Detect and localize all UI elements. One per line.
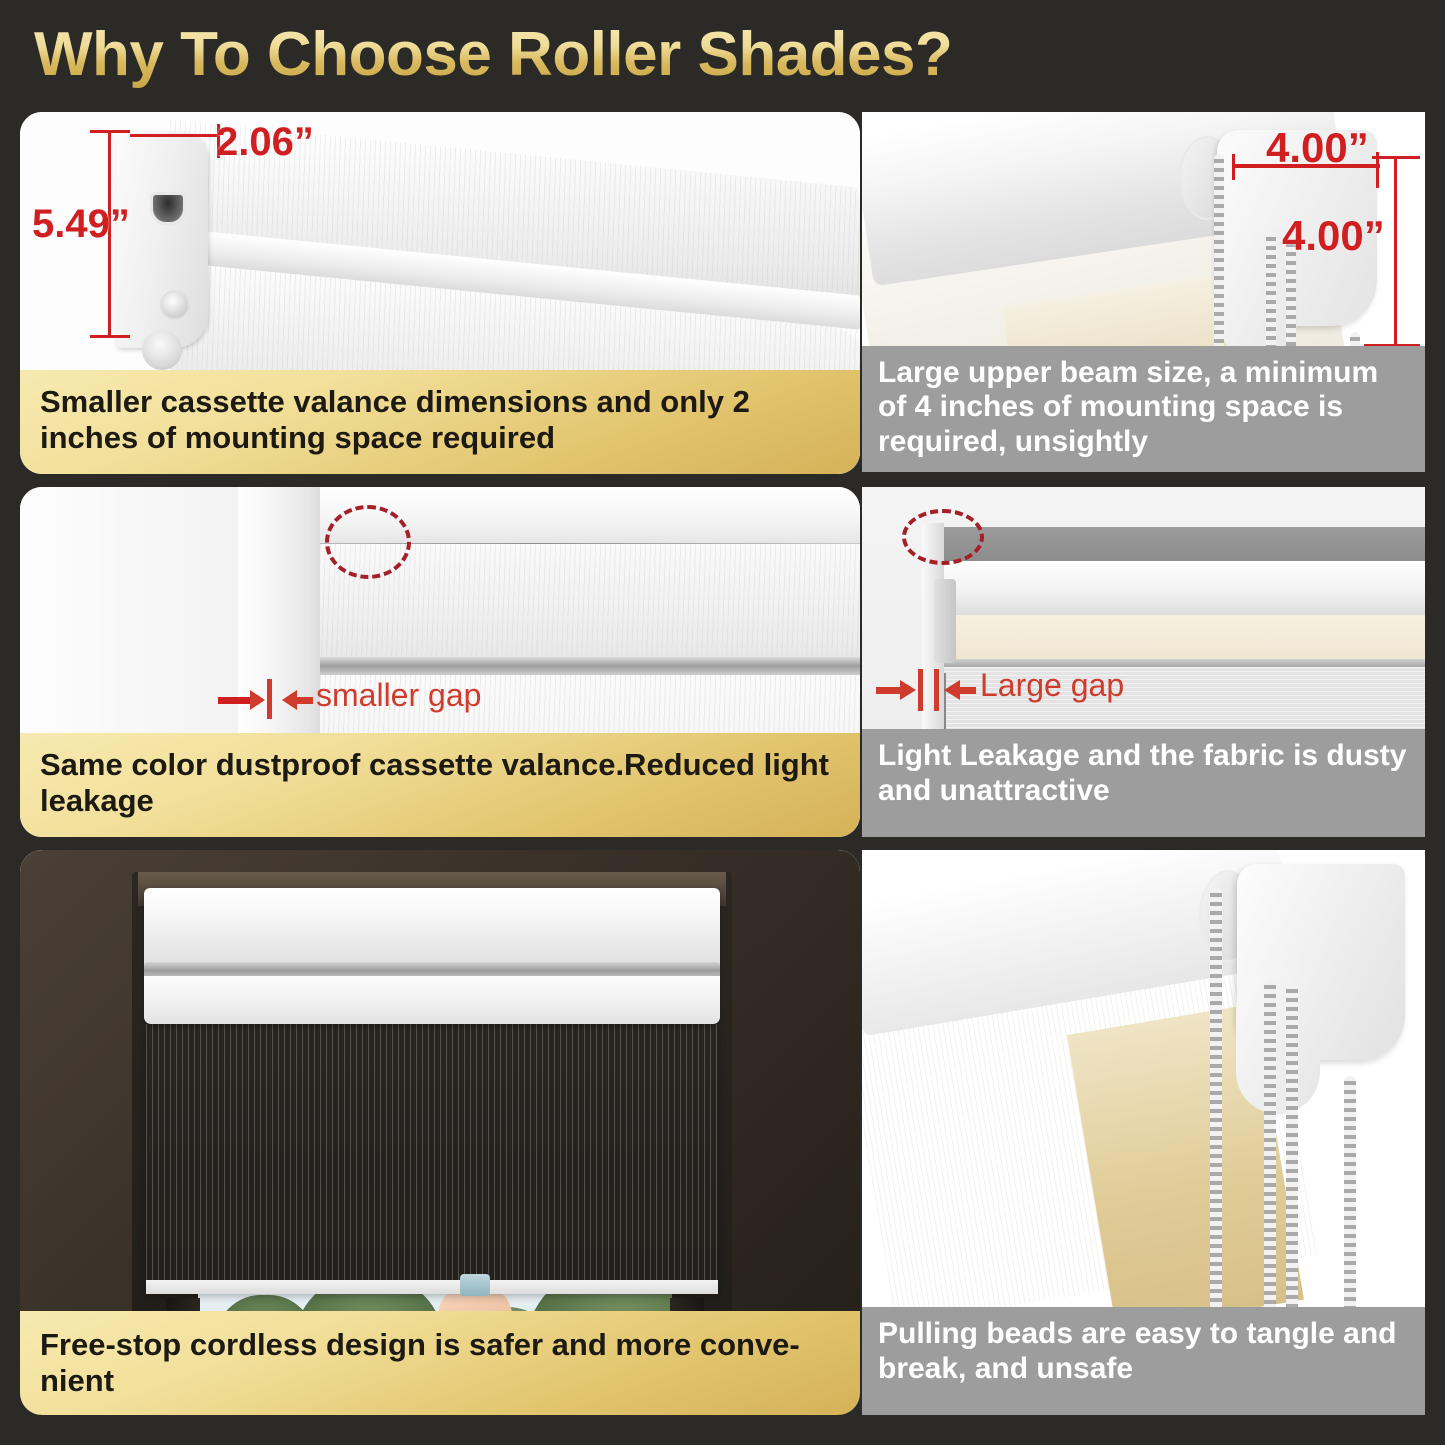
gap-marker	[267, 679, 272, 719]
panel-cell-light-leakage-dusty: Large gap Light Leakage and the fabric i…	[862, 487, 1425, 850]
comparison-grid: 5.49” 2.06” Smaller cassette valance dim…	[20, 112, 1425, 1430]
caption-light-leakage-dusty: Light Leakage and the fabric is dusty an…	[862, 729, 1425, 837]
shade-fabric	[146, 1024, 718, 1292]
gap-label-smaller: smaller gap	[316, 677, 481, 714]
highlight-ellipse-icon	[902, 509, 984, 565]
dimension-label-height: 5.49”	[32, 202, 130, 247]
caption-large-upper-beam: Large upper beam size, a minimum of 4 in…	[862, 346, 1425, 472]
pull-handle[interactable]	[460, 1274, 490, 1296]
panel-large-upper-beam: 4.00” 4.00” Large upper beam size, a min…	[862, 112, 1425, 472]
caption-line-2: nient	[40, 1363, 114, 1398]
page-title: Why To Choose Roller Shades?	[34, 19, 952, 90]
caption-smaller-gap-dustproof: Same color dustproof cassette valance.Re…	[20, 733, 860, 837]
dimension-tick-bottom	[90, 335, 130, 338]
panel-cassette-valance-dimensions: 5.49” 2.06” Smaller cassette valance dim…	[20, 112, 860, 474]
arrow-shaft-right	[297, 697, 313, 704]
dimension-label-width: 4.00”	[1266, 124, 1369, 172]
panel-light-leakage-dusty: Large gap Light Leakage and the fabric i…	[862, 487, 1425, 837]
dimension-tick-top	[90, 130, 130, 133]
panel-cell-smaller-gap-dustproof: smaller gap Same color dustproof cassett…	[20, 487, 860, 850]
panel-cell-pulling-beads-unsafe: Pulling beads are easy to tangle and bre…	[862, 850, 1425, 1430]
panel-cell-cassette-valance-dimensions: 5.49” 2.06” Smaller cassette valance dim…	[20, 112, 860, 487]
panel-smaller-gap-dustproof: smaller gap Same color dustproof cassett…	[20, 487, 860, 837]
arrow-head-right-icon	[900, 680, 916, 700]
caption-pulling-beads-unsafe: Pulling beads are easy to tangle and bre…	[862, 1307, 1425, 1415]
gap-label-large: Large gap	[980, 667, 1124, 704]
cassette-valance	[144, 888, 720, 968]
caption-cassette-valance-dimensions: Smaller cassette valance dimensions and …	[20, 370, 860, 474]
panel-cell-free-stop-cordless: Free-stop cordless design is safer and m…	[20, 850, 860, 1430]
gap-marker	[934, 669, 939, 711]
panel-pulling-beads-unsafe: Pulling beads are easy to tangle and bre…	[862, 850, 1425, 1415]
caption-line-1: Free-stop cordless design is safer and m…	[40, 1327, 800, 1362]
arrow-shaft-right	[960, 687, 976, 694]
dimension-label-height: 4.00”	[1282, 212, 1385, 260]
arrow-head-left-icon	[944, 680, 960, 700]
arrow-shaft-left	[876, 687, 902, 694]
dimension-tick-top	[1372, 156, 1420, 159]
bead-chain[interactable]	[1210, 888, 1222, 1378]
arrow-head-right-icon	[250, 690, 265, 710]
arrow-shaft-left	[218, 697, 252, 704]
panel-free-stop-cordless: Free-stop cordless design is safer and m…	[20, 850, 860, 1415]
dimension-line-horizontal	[130, 134, 220, 137]
header: Why To Choose Roller Shades?	[0, 0, 1445, 108]
dimension-label-width: 2.06”	[216, 120, 314, 165]
highlight-ellipse-icon	[325, 505, 411, 579]
panel-cell-large-upper-beam: 4.00” 4.00” Large upper beam size, a min…	[862, 112, 1425, 487]
arrow-head-left-icon	[282, 690, 297, 710]
caption-free-stop-cordless: Free-stop cordless design is safer and m…	[20, 1311, 860, 1415]
gap-marker	[918, 669, 923, 711]
dimension-line-vertical	[1394, 156, 1397, 346]
